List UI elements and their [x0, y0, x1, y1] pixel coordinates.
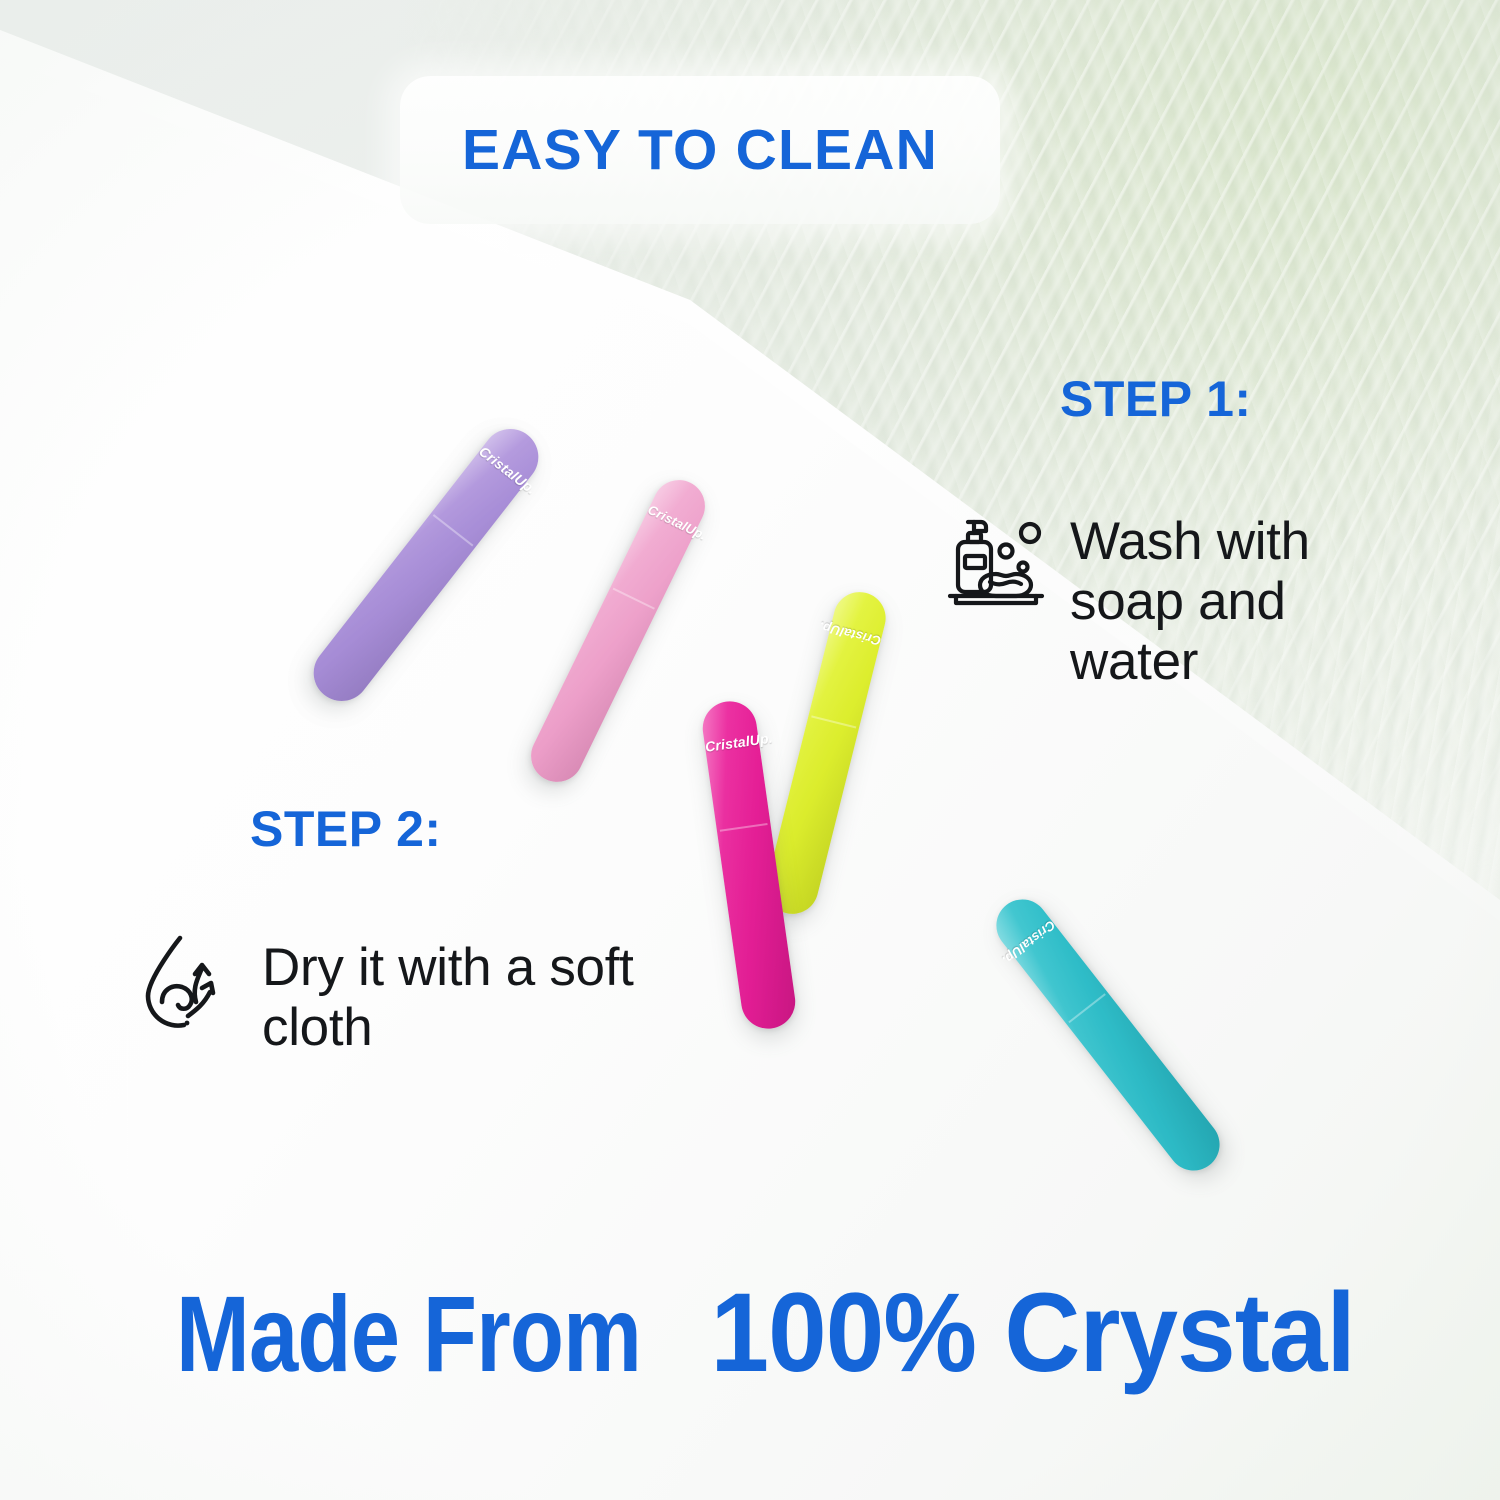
nail-file-brand-label: CristalUp. — [1008, 917, 1058, 961]
step-2-body: Dry it with a soft cloth — [140, 930, 660, 1058]
file-notch — [433, 514, 473, 546]
header-badge: EASY TO CLEAN — [400, 76, 1000, 224]
soap-dispenser-icon — [944, 512, 1048, 617]
nail-file-brand-label: CristalUp. — [704, 732, 760, 755]
tagline-part-light: Made From — [176, 1271, 641, 1396]
file-notch — [613, 588, 655, 610]
step-2-heading: STEP 2: — [250, 800, 442, 858]
nail-file-brand-label: CristalUp. — [828, 622, 882, 649]
tagline: Made From 100% Crystal — [0, 1268, 1500, 1397]
step-2-text: Dry it with a soft cloth — [262, 930, 660, 1058]
step-1-body: Wash with soap and water — [944, 512, 1424, 692]
header-badge-label: EASY TO CLEAN — [462, 117, 938, 183]
file-notch — [811, 715, 856, 728]
product-infographic: CristalUp. CristalUp. CristalUp. Cristal… — [0, 0, 1500, 1500]
file-notch — [1068, 993, 1105, 1023]
nail-file-brand-label: CristalUp. — [645, 502, 698, 538]
step-1-text: Wash with soap and water — [1070, 512, 1424, 692]
nail-file-brand-label: CristalUp. — [476, 443, 530, 490]
file-notch — [720, 823, 767, 832]
tagline-part-strong: 100% Crystal — [711, 1268, 1355, 1397]
step-1-heading: STEP 1: — [1060, 370, 1252, 428]
water-droplet-dry-icon — [140, 930, 240, 1039]
